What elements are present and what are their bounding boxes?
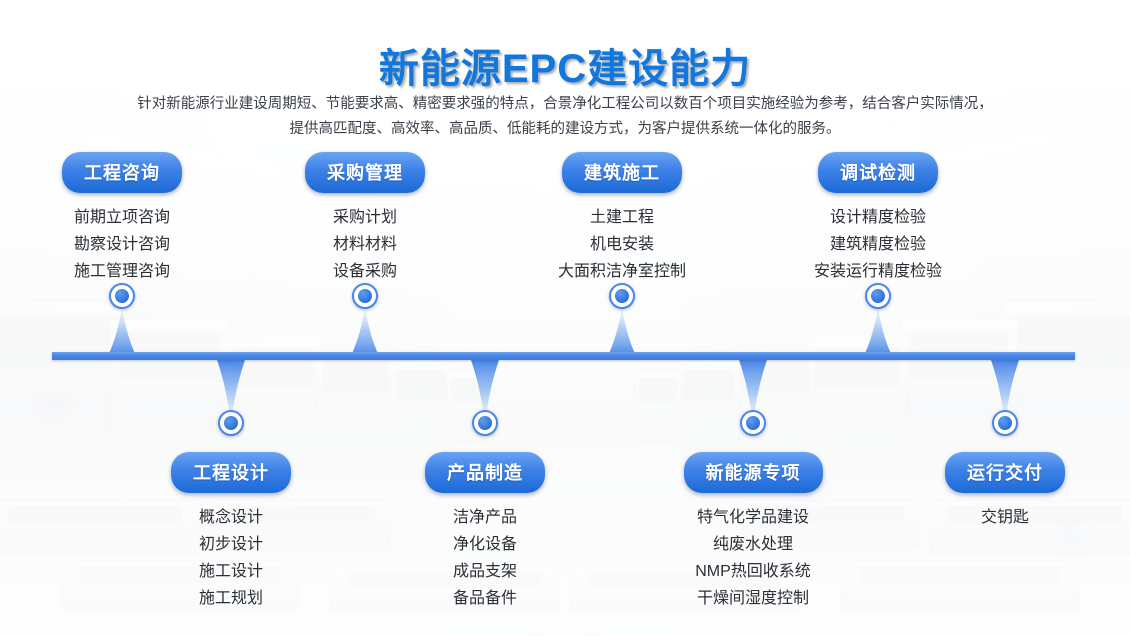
node-item: 成品支架 [385, 558, 585, 585]
node-item: 特气化学品建设 [643, 504, 863, 531]
timeline-node-construction: 建筑施工 土建工程 机电安装 大面积洁净室控制 [512, 152, 732, 285]
node-item: 概念设计 [131, 504, 331, 531]
node-item: 初步设计 [131, 531, 331, 558]
timeline-node-commissioning-testing: 调试检测 设计精度检验 建筑精度检验 安装运行精度检验 [762, 152, 994, 285]
node-item: 设备采购 [265, 258, 465, 285]
timeline-marker-bottom-1[interactable] [218, 410, 244, 436]
timeline-node-operation-delivery: 运行交付 交钥匙 [905, 452, 1105, 531]
subtitle-line-2: 提供高匹配度、高效率、高品质、低能耗的建设方式，为客户提供系统一体化的服务。 [88, 117, 1042, 142]
node-item: 纯废水处理 [643, 531, 863, 558]
node-badge-label[interactable]: 建筑施工 [562, 152, 682, 193]
marker-dot-icon [478, 416, 492, 430]
timeline-connectors [0, 286, 1130, 466]
node-badge-label[interactable]: 新能源专项 [684, 452, 823, 493]
timeline-node-new-energy-special: 新能源专项 特气化学品建设 纯废水处理 NMP热回收系统 干燥间湿度控制 [643, 452, 863, 612]
timeline-marker-top-4[interactable] [865, 283, 891, 309]
page-title: 新能源EPC建设能力 [0, 36, 1130, 94]
timeline-marker-top-2[interactable] [352, 283, 378, 309]
timeline-bar [52, 352, 1075, 360]
page-subtitle: 针对新能源行业建设周期短、节能要求高、精密要求强的特点，合景净化工程公司以数百个… [88, 92, 1042, 142]
node-item: 施工设计 [131, 558, 331, 585]
marker-dot-icon [746, 416, 760, 430]
node-badge-label[interactable]: 产品制造 [425, 452, 545, 493]
node-items: 土建工程 机电安装 大面积洁净室控制 [512, 204, 732, 285]
marker-dot-icon [615, 289, 629, 303]
marker-dot-icon [224, 416, 238, 430]
timeline-node-engineering-consulting: 工程咨询 前期立项咨询 勘察设计咨询 施工管理咨询 [22, 152, 222, 285]
timeline-marker-top-3[interactable] [609, 283, 635, 309]
node-items: 设计精度检验 建筑精度检验 安装运行精度检验 [762, 204, 994, 285]
node-item: 净化设备 [385, 531, 585, 558]
node-item: 施工管理咨询 [22, 258, 222, 285]
node-badge-label[interactable]: 采购管理 [305, 152, 425, 193]
timeline-node-product-manufacturing: 产品制造 洁净产品 净化设备 成品支架 备品备件 [385, 452, 585, 612]
marker-dot-icon [998, 416, 1012, 430]
node-item: 交钥匙 [905, 504, 1105, 531]
node-badge-label[interactable]: 工程咨询 [62, 152, 182, 193]
timeline-marker-bottom-2[interactable] [472, 410, 498, 436]
node-items: 交钥匙 [905, 504, 1105, 531]
node-item: 洁净产品 [385, 504, 585, 531]
node-item: 干燥间湿度控制 [643, 585, 863, 612]
node-items: 洁净产品 净化设备 成品支架 备品备件 [385, 504, 585, 612]
node-item: 建筑精度检验 [762, 231, 994, 258]
node-item: 勘察设计咨询 [22, 231, 222, 258]
timeline-marker-top-1[interactable] [109, 283, 135, 309]
node-item: 土建工程 [512, 204, 732, 231]
node-item: 机电安装 [512, 231, 732, 258]
node-items: 前期立项咨询 勘察设计咨询 施工管理咨询 [22, 204, 222, 285]
marker-dot-icon [871, 289, 885, 303]
node-badge-label[interactable]: 运行交付 [945, 452, 1065, 493]
timeline-marker-bottom-3[interactable] [740, 410, 766, 436]
node-item: 大面积洁净室控制 [512, 258, 732, 285]
node-badge-label[interactable]: 工程设计 [171, 452, 291, 493]
node-item: 设计精度检验 [762, 204, 994, 231]
node-item: 材料材料 [265, 231, 465, 258]
node-badge-label[interactable]: 调试检测 [818, 152, 938, 193]
node-items: 概念设计 初步设计 施工设计 施工规划 [131, 504, 331, 612]
marker-dot-icon [115, 289, 129, 303]
timeline-marker-bottom-4[interactable] [992, 410, 1018, 436]
subtitle-line-1: 针对新能源行业建设周期短、节能要求高、精密要求强的特点，合景净化工程公司以数百个… [88, 92, 1042, 117]
marker-dot-icon [358, 289, 372, 303]
node-item: 采购计划 [265, 204, 465, 231]
node-item: NMP热回收系统 [643, 558, 863, 585]
node-item: 安装运行精度检验 [762, 258, 994, 285]
node-item: 施工规划 [131, 585, 331, 612]
node-items: 特气化学品建设 纯废水处理 NMP热回收系统 干燥间湿度控制 [643, 504, 863, 612]
node-item: 前期立项咨询 [22, 204, 222, 231]
timeline-node-engineering-design: 工程设计 概念设计 初步设计 施工设计 施工规划 [131, 452, 331, 612]
timeline-node-procurement-management: 采购管理 采购计划 材料材料 设备采购 [265, 152, 465, 285]
node-items: 采购计划 材料材料 设备采购 [265, 204, 465, 285]
node-item: 备品备件 [385, 585, 585, 612]
